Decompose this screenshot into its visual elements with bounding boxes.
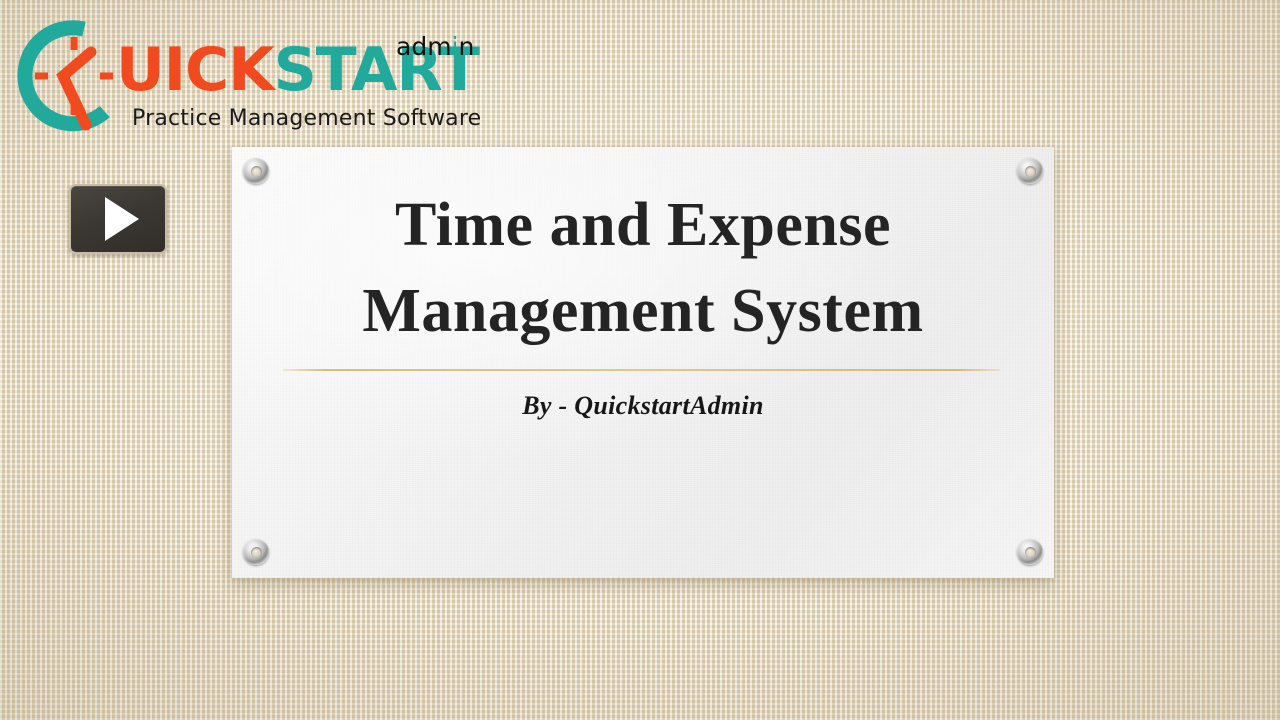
screw-top-left	[243, 158, 269, 184]
quickstart-admin-logo[interactable]: UICKSTART admin Practice Management Soft…	[8, 12, 478, 130]
title-divider	[283, 369, 1000, 371]
logo-admin-part2: n	[459, 32, 475, 61]
play-triangle-icon	[105, 197, 139, 241]
logo-admin-i: i	[452, 32, 459, 61]
logo-word-quick: UICK	[116, 35, 274, 105]
title-card: Time and Expense Management System By - …	[232, 147, 1054, 578]
logo-admin-label: admin	[396, 34, 474, 59]
logo-tagline: Practice Management Software	[132, 108, 481, 130]
title-line-1: Time and Expense	[256, 183, 1030, 269]
screw-top-right	[1017, 158, 1043, 184]
title-line-2: Management System	[256, 269, 1030, 355]
page-title: Time and Expense Management System	[232, 183, 1054, 354]
screw-bottom-left	[243, 539, 269, 565]
clock-q-logo-icon	[16, 18, 132, 134]
screw-bottom-right	[1017, 539, 1043, 565]
presentation-slide: UICKSTART admin Practice Management Soft…	[0, 0, 1280, 720]
page-subtitle: By - QuickstartAdmin	[232, 390, 1054, 421]
logo-admin-part1: adm	[396, 32, 452, 61]
play-button[interactable]	[69, 184, 167, 254]
